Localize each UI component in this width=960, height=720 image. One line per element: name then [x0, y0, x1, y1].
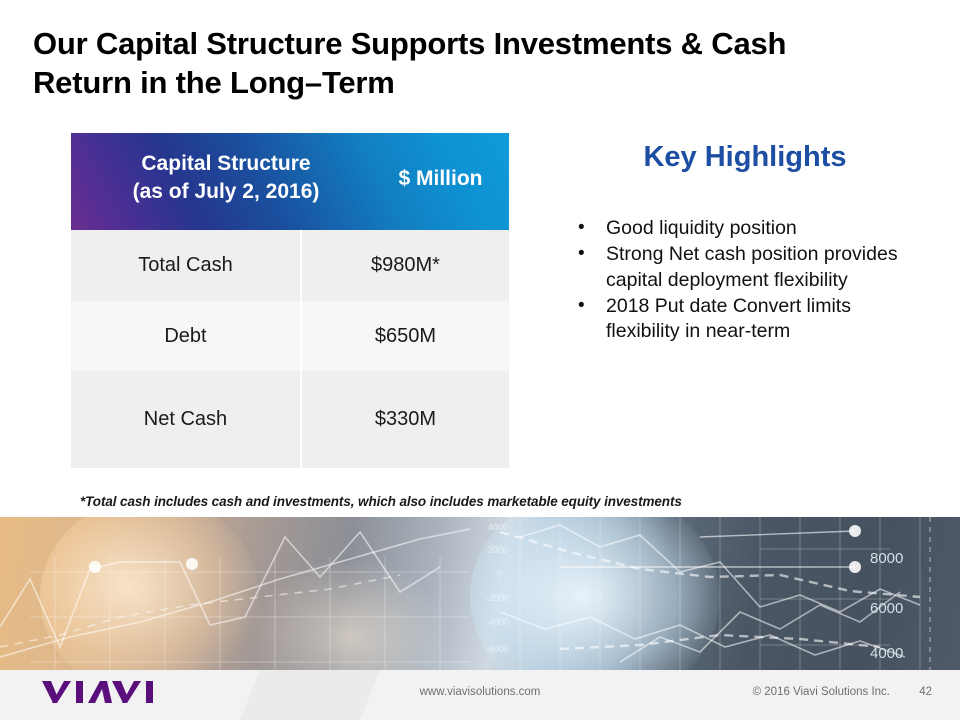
band-axis-label-4000: 4000 [870, 645, 903, 662]
list-item: • 2018 Put date Convert limits flexibili… [578, 294, 918, 345]
table-cell-label: Net Cash [71, 371, 300, 468]
band-left-axis-label-2000: 2000 [488, 545, 508, 555]
table-row: Debt $650M [71, 301, 509, 371]
list-item: • Good liquidity position [578, 216, 918, 241]
table-cell-value: $650M [302, 301, 509, 371]
table-cell-label: Total Cash [71, 230, 300, 301]
table-row: Total Cash $980M* [71, 230, 509, 301]
table-header-col1-line1: Capital Structure [91, 150, 361, 178]
bullet-icon: • [578, 242, 606, 293]
footnote: *Total cash includes cash and investment… [80, 494, 682, 509]
table-cell-value: $330M [302, 371, 509, 468]
list-item-text: Good liquidity position [606, 216, 918, 241]
table-row: Net Cash $330M [71, 371, 509, 468]
band-left-axis-label-0: 0 [497, 569, 502, 579]
bullet-icon: • [578, 294, 606, 345]
table-header: Capital Structure (as of July 2, 2016) $… [71, 133, 509, 230]
list-item-text: Strong Net cash position provides capita… [606, 242, 918, 293]
band-chart-overlay [0, 517, 960, 670]
key-highlights-title: Key Highlights [560, 141, 930, 174]
decorative-image-band: 8000 6000 4000 4000 2000 0 -2000 -4000 -… [0, 517, 960, 670]
table-header-col2: $ Million [372, 167, 509, 191]
table-header-col1-line2: (as of July 2, 2016) [91, 178, 361, 206]
bullet-icon: • [578, 216, 606, 241]
table-cell-value: $980M* [302, 230, 509, 301]
table-cell-label: Debt [71, 301, 300, 371]
page-title: Our Capital Structure Supports Investmen… [33, 24, 873, 102]
list-item: • Strong Net cash position provides capi… [578, 242, 918, 293]
capital-structure-table: Capital Structure (as of July 2, 2016) $… [71, 133, 509, 468]
band-left-axis-label-neg2000: -2000 [486, 593, 509, 603]
list-item-text: 2018 Put date Convert limits flexibility… [606, 294, 918, 345]
footer-page-number: 42 [919, 686, 932, 698]
table-header-col1: Capital Structure (as of July 2, 2016) [91, 150, 361, 206]
key-highlights-list: • Good liquidity position • Strong Net c… [578, 216, 918, 346]
band-axis-label-8000: 8000 [870, 550, 903, 567]
footer-copyright: © 2016 Viavi Solutions Inc. [753, 686, 890, 698]
band-left-axis-label-4000: 4000 [488, 522, 508, 532]
band-left-axis-label-neg4000: -4000 [486, 617, 509, 627]
band-left-axis-label-neg6000: -6000 [486, 644, 509, 654]
slide: Our Capital Structure Supports Investmen… [0, 0, 960, 720]
band-axis-label-6000: 6000 [870, 600, 903, 617]
